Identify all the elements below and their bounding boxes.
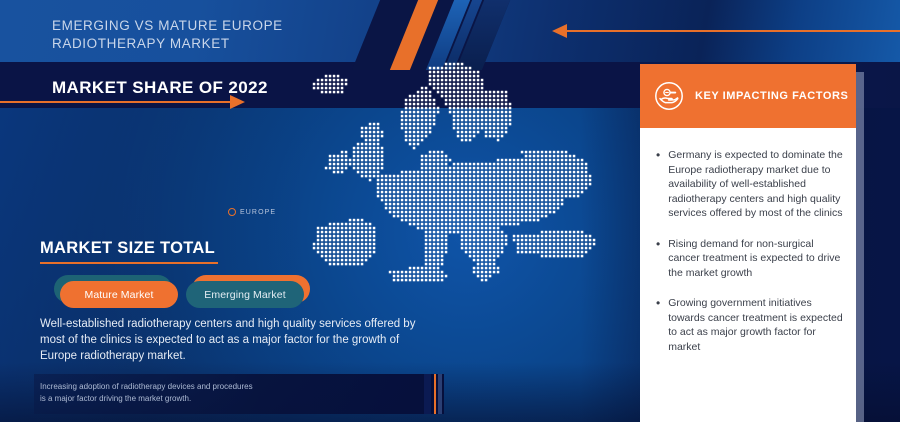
europe-marker: EUROPE	[228, 208, 276, 216]
arrow-right-icon	[230, 95, 245, 109]
bottom-note-text: Increasing adoption of radiotherapy devi…	[40, 381, 370, 405]
page-title: EMERGING VS MATURE EUROPE RADIOTHERAPY M…	[52, 17, 382, 53]
market-size-description: Well-established radiotherapy centers an…	[40, 316, 430, 364]
europe-map-svg	[300, 58, 610, 308]
note-bar-dark	[424, 374, 431, 414]
note-bar-grey	[438, 374, 442, 414]
key-factors-list: • Germany is expected to dominate the Eu…	[656, 148, 846, 370]
note-bar-orange	[434, 374, 436, 414]
key-factors-header: KEY IMPACTING FACTORS	[640, 64, 856, 128]
market-size-title: MARKET SIZE TOTAL	[40, 239, 215, 258]
arrow-left-icon	[552, 24, 567, 38]
list-item: • Growing government initiatives towards…	[656, 296, 846, 354]
list-item-text: Rising demand for non-surgical cancer tr…	[668, 237, 846, 281]
list-item-text: Growing government initiatives towards c…	[668, 296, 846, 354]
market-size-underline	[40, 262, 218, 264]
list-item: • Rising demand for non-surgical cancer …	[656, 237, 846, 281]
mature-market-pill[interactable]: Mature Market	[60, 281, 178, 308]
list-item-text: Germany is expected to dominate the Euro…	[668, 148, 846, 221]
bottom-note-line-2: is a major factor driving the market gro…	[40, 393, 370, 405]
europe-marker-label: EUROPE	[240, 209, 276, 216]
hand-holding-pill-icon	[654, 81, 684, 111]
key-factors-title: KEY IMPACTING FACTORS	[695, 90, 848, 102]
bullet-marker-icon: •	[656, 237, 660, 281]
location-dot-icon	[228, 208, 236, 216]
bottom-note-line-1: Increasing adoption of radiotherapy devi…	[40, 381, 370, 393]
emerging-market-pill[interactable]: Emerging Market	[186, 281, 304, 308]
infographic-canvas: EMERGING VS MATURE EUROPE RADIOTHERAPY M…	[0, 0, 900, 422]
arrow-right-line	[0, 101, 232, 103]
bullet-marker-icon: •	[656, 148, 660, 221]
bullet-marker-icon: •	[656, 296, 660, 354]
arrow-left-line	[566, 30, 900, 32]
europe-dot-map	[300, 58, 610, 308]
list-item: • Germany is expected to dominate the Eu…	[656, 148, 846, 221]
